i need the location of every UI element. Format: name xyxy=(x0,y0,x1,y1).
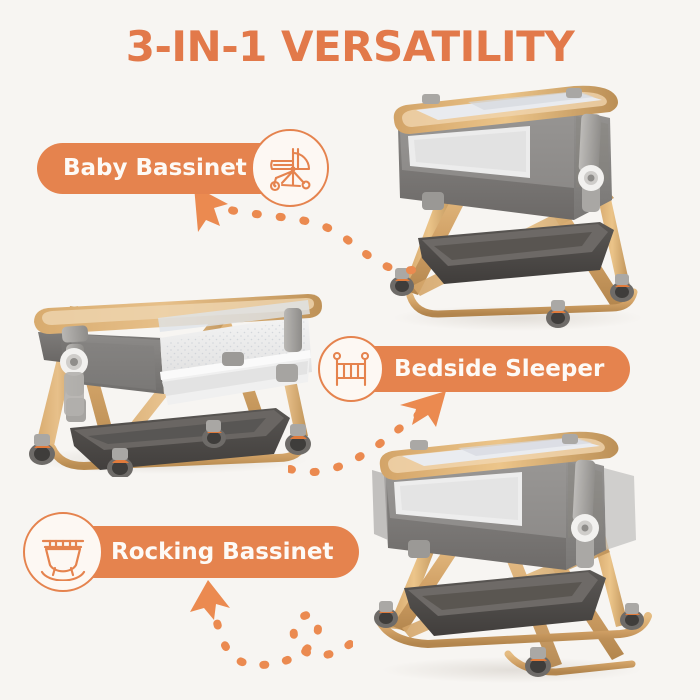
arrow-to-rocking-bassinet xyxy=(178,578,353,695)
product-image-bedside-sleeper xyxy=(378,80,663,340)
badge-baby-bassinet[interactable]: Baby Bassinet xyxy=(37,129,329,207)
rocking-cradle-icon-glyph xyxy=(34,523,92,581)
dashed-looping-arrow-icon xyxy=(178,578,353,690)
baby-bassinet-illustration xyxy=(8,222,338,477)
badge-bedside-sleeper-pill[interactable]: Bedside Sleeper xyxy=(342,346,630,392)
rocking-cradle-icon xyxy=(23,512,103,592)
badge-bedside-sleeper[interactable]: Bedside Sleeper xyxy=(318,336,630,402)
badge-rocking-bassinet[interactable]: Rocking Bassinet xyxy=(23,512,359,592)
badge-baby-bassinet-label: Baby Bassinet xyxy=(63,155,247,181)
rocking-bassinet-illustration xyxy=(366,428,658,683)
stroller-icon-glyph xyxy=(262,140,318,196)
crib-icon xyxy=(318,336,384,402)
product-image-rocking-bassinet xyxy=(366,428,658,688)
badge-rocking-bassinet-label: Rocking Bassinet xyxy=(111,539,333,565)
crib-icon-glyph xyxy=(329,347,373,391)
page-title: 3-IN-1 VERSATILITY xyxy=(0,22,700,71)
infographic-canvas: 3-IN-1 VERSATILITY xyxy=(0,0,700,700)
badge-bedside-sleeper-label: Bedside Sleeper xyxy=(394,356,604,382)
product-image-baby-bassinet xyxy=(8,222,338,482)
bedside-sleeper-illustration xyxy=(378,80,663,335)
stroller-icon xyxy=(251,129,329,207)
